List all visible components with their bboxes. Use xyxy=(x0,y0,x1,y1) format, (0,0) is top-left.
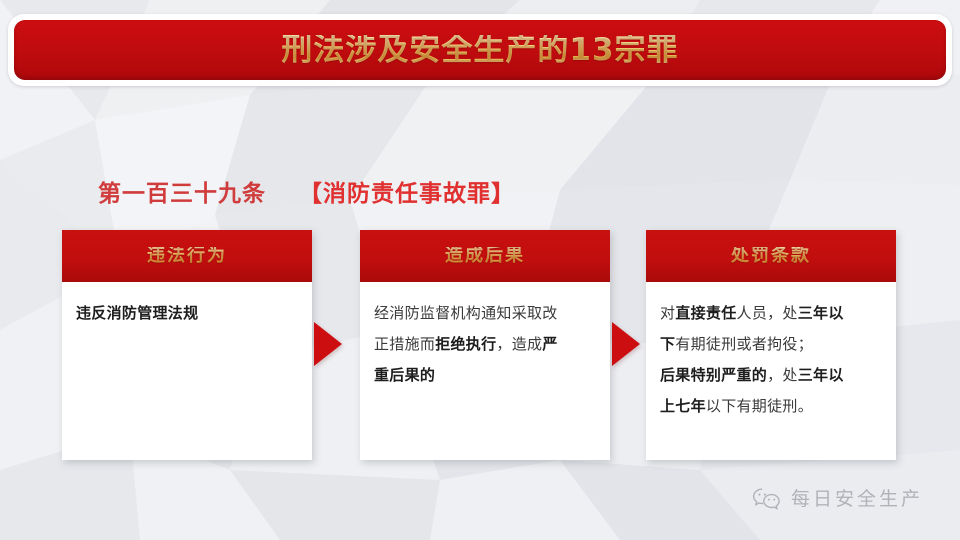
card-body-illegal-act: 违反消防管理法规 xyxy=(62,282,312,339)
card-body-penalty: 对直接责任人员，处三年以下有期徒刑或者拘役；后果特别严重的，处三年以上七年以下有… xyxy=(646,282,896,432)
title-banner: 刑法涉及安全生产的13宗罪 xyxy=(14,20,946,80)
card-body-consequence: 经消防监督机构通知采取改正措施而拒绝执行，造成严重后果的 xyxy=(360,282,610,401)
card-header-label: 造成后果 xyxy=(445,247,525,265)
slide-root: 刑法涉及安全生产的13宗罪 第一百三十九条 【消防责任事故罪】 违法行为 违反消… xyxy=(0,0,960,540)
card-header-consequence: 造成后果 xyxy=(360,230,610,282)
page-title: 刑法涉及安全生产的13宗罪 xyxy=(281,35,678,66)
subtitle-separator xyxy=(266,181,299,207)
card-header-penalty: 处罚条款 xyxy=(646,230,896,282)
card-consequence: 造成后果 经消防监督机构通知采取改正措施而拒绝执行，造成严重后果的 xyxy=(360,230,610,460)
watermark-text: 每日安全生产 xyxy=(791,490,923,509)
card-penalty: 处罚条款 对直接责任人员，处三年以下有期徒刑或者拘役；后果特别严重的，处三年以上… xyxy=(646,230,896,460)
card-header-label: 处罚条款 xyxy=(731,247,811,265)
article-subtitle: 第一百三十九条 【消防责任事故罪】 xyxy=(62,155,515,234)
card-header-illegal-act: 违法行为 xyxy=(62,230,312,282)
wechat-icon xyxy=(752,487,782,512)
article-number: 第一百三十九条 xyxy=(98,181,266,207)
card-illegal-act: 违法行为 违反消防管理法规 xyxy=(62,230,312,460)
watermark: 每日安全生产 xyxy=(752,487,923,512)
arrow-right-icon xyxy=(612,322,640,366)
title-banner-frame: 刑法涉及安全生产的13宗罪 xyxy=(8,14,952,86)
arrow-right-icon xyxy=(314,322,342,366)
crime-name: 【消防责任事故罪】 xyxy=(299,181,515,207)
card-header-label: 违法行为 xyxy=(147,247,227,265)
